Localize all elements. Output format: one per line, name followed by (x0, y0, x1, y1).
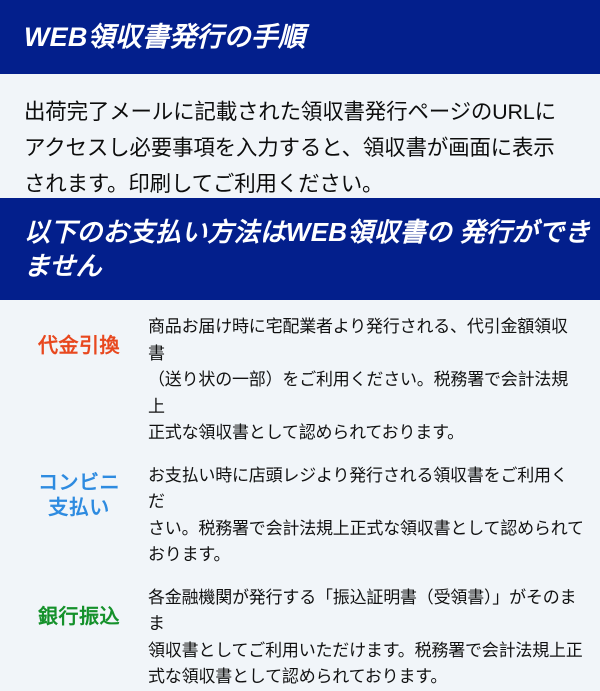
page-title: WEB領収書発行の手順 (24, 20, 305, 55)
payment-method-row-cod: 代金引換 商品お届け時に宅配業者より発行される、代引金額領収書 （送り状の一部）… (0, 314, 600, 447)
payment-methods-list: 代金引換 商品お届け時に宅配業者より発行される、代引金額領収書 （送り状の一部）… (0, 300, 600, 691)
intro-block: 出荷完了メールに記載された領収書発行ページのURLに アクセスし必要事項を入力す… (0, 74, 600, 198)
payment-method-description-cod: 商品お届け時に宅配業者より発行される、代引金額領収書 （送り状の一部）をご利用く… (134, 314, 584, 447)
primary-header-band: WEB領収書発行の手順 (0, 0, 600, 74)
section-title: 以下のお支払い方法はWEB領収書の 発行ができません (24, 215, 600, 284)
payment-method-description-convenience-store: お支払い時に店頭レジより発行される領収書をご利用くだ さい。税務署で会計法規上正… (134, 463, 584, 569)
intro-paragraph: 出荷完了メールに記載された領収書発行ページのURLに アクセスし必要事項を入力す… (24, 94, 578, 202)
receipt-info-graphic: WEB領収書発行の手順 出荷完了メールに記載された領収書発行ページのURLに ア… (0, 0, 600, 600)
payment-method-label-cod: 代金引換 (24, 314, 134, 359)
payment-method-row-convenience-store: コンビニ 支払い お支払い時に店頭レジより発行される領収書をご利用くだ さい。税… (0, 463, 600, 569)
payment-method-label-convenience-store: コンビニ 支払い (24, 463, 134, 521)
payment-method-label-bank-transfer: 銀行振込 (24, 585, 134, 630)
secondary-header-band: 以下のお支払い方法はWEB領収書の 発行ができません (0, 198, 600, 300)
payment-method-row-bank-transfer: 銀行振込 各金融機関が発行する「振込証明書（受領書）」がそのまま 領収書としてご… (0, 585, 600, 691)
payment-method-description-bank-transfer: 各金融機関が発行する「振込証明書（受領書）」がそのまま 領収書としてご利用いただ… (134, 585, 584, 691)
